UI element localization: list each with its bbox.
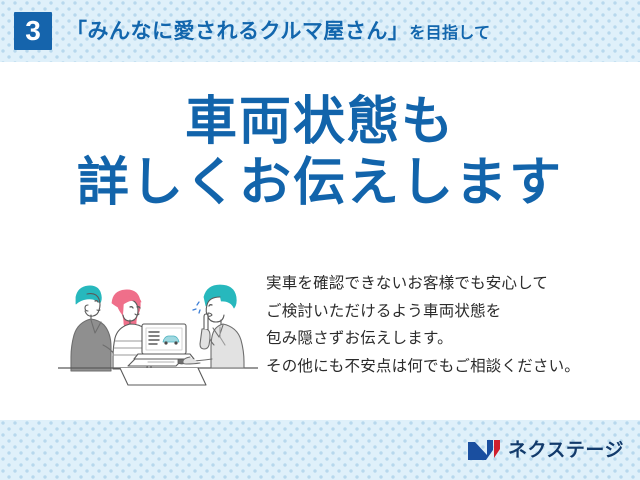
headline-line-1: 車両状態も	[0, 92, 640, 153]
nextage-n-logo-icon	[467, 438, 501, 462]
speech-sparkle	[193, 302, 200, 313]
header-title-suffix: を目指して	[409, 25, 490, 42]
body-copy-line-4: その他にも不安点は何でもご相談ください。	[266, 353, 626, 381]
lower-section: 実車を確認できないお客様でも安心して ご検討いただけるよう車両状態を 包み隠さず…	[0, 267, 640, 407]
headline-line-2: 詳しくお伝えします	[0, 153, 640, 214]
body-copy-line-3: 包み隠さずお伝えします。	[266, 325, 626, 353]
sales-staff-arm	[200, 329, 210, 349]
content-panel: 車両状態も 詳しくお伝えします	[0, 62, 640, 420]
promo-banner: 3 「みんなに愛されるクルマ屋さん」を目指して 車両状態も 詳しくお伝えします	[0, 0, 640, 480]
header-title: 「みんなに愛されるクルマ屋さん」を目指して	[66, 21, 490, 42]
body-copy-line-1: 実車を確認できないお客様でも安心して	[266, 270, 626, 298]
laptop	[134, 324, 194, 359]
customer-man-jacket	[71, 319, 111, 371]
table-surface	[120, 368, 206, 385]
step-number-badge: 3	[14, 12, 52, 50]
consultation-illustration	[58, 267, 258, 389]
banner-header: 3 「みんなに愛されるクルマ屋さん」を目指して	[0, 0, 640, 62]
body-copy-line-2: ご検討いただけるよう車両状態を	[266, 298, 626, 326]
banner-footer: ネクステージ	[0, 420, 640, 480]
body-copy: 実車を確認できないお客様でも安心して ご検討いただけるよう車両状態を 包み隠さず…	[266, 270, 626, 380]
headline: 車両状態も 詳しくお伝えします	[0, 92, 640, 215]
header-title-main: 「みんなに愛されるクルマ屋さん」	[66, 20, 409, 43]
nextage-logo-text: ネクステージ	[508, 441, 624, 460]
nextage-logo: ネクステージ	[467, 438, 624, 462]
pointing-finger	[204, 314, 208, 329]
sales-staff-suit	[211, 324, 244, 368]
